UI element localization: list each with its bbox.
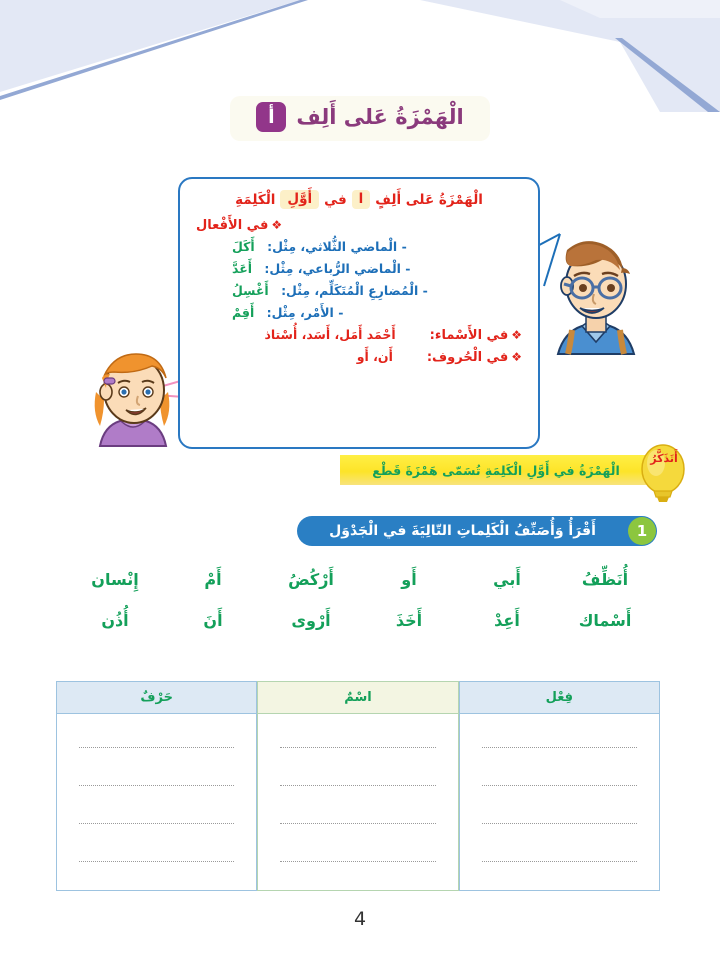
answer-line[interactable] [482,746,637,748]
verb-line: - الْمُضارِعِ الْمُتَكَلِّم، مِثْل: أَغْ… [196,283,522,298]
word-item: أَخَذَ [360,611,458,630]
girl-illustration [82,342,188,450]
exercise-header-bar: 1 أَقْرَأُ وَأُصَنِّفُ الْكَلِماتِ التّا… [297,516,657,546]
rule-box-headline: الْهَمْزَةُ عَلى أَلِفٍ ا في أَوَّلِ الْ… [196,190,522,209]
diamond-bullet-icon: ❖ [511,350,522,364]
verb-line: - الْماضي الثُّلاثي، مِثْل: أَكَلَ [196,239,522,254]
diamond-bullet-icon: ❖ [511,328,522,342]
verbs-heading-text: في الأَفْعال [196,218,268,233]
verbs-heading: ❖في الأَفْعال [196,218,522,233]
word-item: أَمْ [164,570,262,589]
word-item: أَبي [458,570,556,589]
verb-line: - الْماضي الرُّباعي، مِثْل: أَعَدَّ [196,261,522,276]
remember-banner: الْهَمْزَةُ في أَوَّلِ الْكَلِمَةِ تُسَم… [340,455,652,485]
headline-part1: الْهَمْزَةُ عَلى أَلِفٍ [375,192,483,208]
word-row: أَسْماك أَعِدْ أَخَذَ أَرْوى أَنَ أُذُن [56,611,664,630]
column-header-particle: حَرْفٌ [57,682,256,714]
word-item: أُنَظِّفُ [556,570,654,589]
exercise-instruction: أَقْرَأُ وَأُصَنِّفُ الْكَلِماتِ التّالِ… [297,523,620,539]
answer-line[interactable] [280,860,435,862]
page-number: 4 [0,908,720,930]
answer-line[interactable] [280,784,435,786]
title-plate: الْهَمْزَةُ عَلى أَلِف أ [230,96,489,141]
verb-line-example: أَقِمْ [232,305,254,320]
particles-examples: أَن، أَو [357,349,393,364]
verb-line: - الأَمْر، مِثْل: أَقِمْ [196,305,522,320]
headline-part2: في [324,192,347,208]
word-item: أُذُن [66,611,164,630]
word-item: أَسْماك [556,611,654,630]
answer-line[interactable] [79,822,234,824]
verb-line-example: أَعَدَّ [232,261,252,276]
verb-line-label: - الأَمْر، مِثْل: [267,305,344,320]
headline-highlight-alif: ا [352,190,371,209]
column-body-particle[interactable] [57,714,256,890]
nouns-examples: أَحْمَد أَمَل، أَسَد، أُسْتاذ [264,327,395,342]
answer-line[interactable] [280,822,435,824]
headline-highlight-awwal: أَوَّلِ [280,190,319,209]
word-item: إِنْسان [66,570,164,589]
nouns-label-text: في الأَسْماء: [430,328,509,343]
title-text: الْهَمْزَةُ عَلى أَلِف [296,105,463,129]
word-bank: أُنَظِّفُ أَبي أَو أَرْكُضُ أَمْ إِنْسان… [56,570,664,652]
column-header-verb: فِعْل [460,682,659,714]
word-row: أُنَظِّفُ أَبي أَو أَرْكُضُ أَمْ إِنْسان [56,570,664,589]
classification-table: فِعْل اسْمٌ حَرْفٌ [56,681,660,891]
verb-line-label: - الْمُضارِعِ الْمُتَكَلِّم، مِثْل: [281,283,428,298]
answer-line[interactable] [482,822,637,824]
verb-line-label: - الْماضي الثُّلاثي، مِثْل: [267,239,407,254]
column-header-noun: اسْمٌ [258,682,457,714]
answer-line[interactable] [79,860,234,862]
boy-illustration [534,226,658,366]
exercise-number-badge: 1 [628,517,656,545]
answer-line[interactable] [482,860,637,862]
word-item: أَرْوى [262,611,360,630]
table-column-particle: حَرْفٌ [56,681,257,891]
column-body-verb[interactable] [460,714,659,890]
remember-label: أَتَذَكَّرُ [643,452,685,465]
answer-line[interactable] [79,784,234,786]
verb-line-label: - الْماضي الرُّباعي، مِثْل: [264,261,410,276]
remember-text: الْهَمْزَةُ في أَوَّلِ الْكَلِمَةِ تُسَم… [372,463,619,478]
answer-line[interactable] [79,746,234,748]
word-item: أَو [360,570,458,589]
nouns-label: ❖في الأَسْماء: [430,328,522,343]
answer-line[interactable] [482,784,637,786]
title-letter-badge: أ [256,102,286,132]
rule-box: الْهَمْزَةُ عَلى أَلِفٍ ا في أَوَّلِ الْ… [178,177,540,449]
word-item: أَرْكُضُ [262,570,360,589]
headline-part3: الْكَلِمَةِ [235,192,275,208]
table-column-noun: اسْمٌ [257,681,458,891]
word-item: أَنَ [164,611,262,630]
verb-line-example: أَكَلَ [232,239,255,254]
table-column-verb: فِعْل [459,681,660,891]
particles-row: ❖في الْحُروف: أَن، أَو [196,349,522,365]
nouns-row: ❖في الأَسْماء: أَحْمَد أَمَل، أَسَد، أُس… [196,327,522,343]
particles-label: ❖في الْحُروف: [427,350,522,365]
column-body-noun[interactable] [258,714,457,890]
word-item: أَعِدْ [458,611,556,630]
answer-line[interactable] [280,746,435,748]
verb-line-example: أَغْسِلُ [232,283,269,298]
diamond-bullet-icon: ❖ [271,218,282,232]
particles-label-text: في الْحُروف: [427,350,508,365]
page-title: الْهَمْزَةُ عَلى أَلِف أ [0,96,720,141]
